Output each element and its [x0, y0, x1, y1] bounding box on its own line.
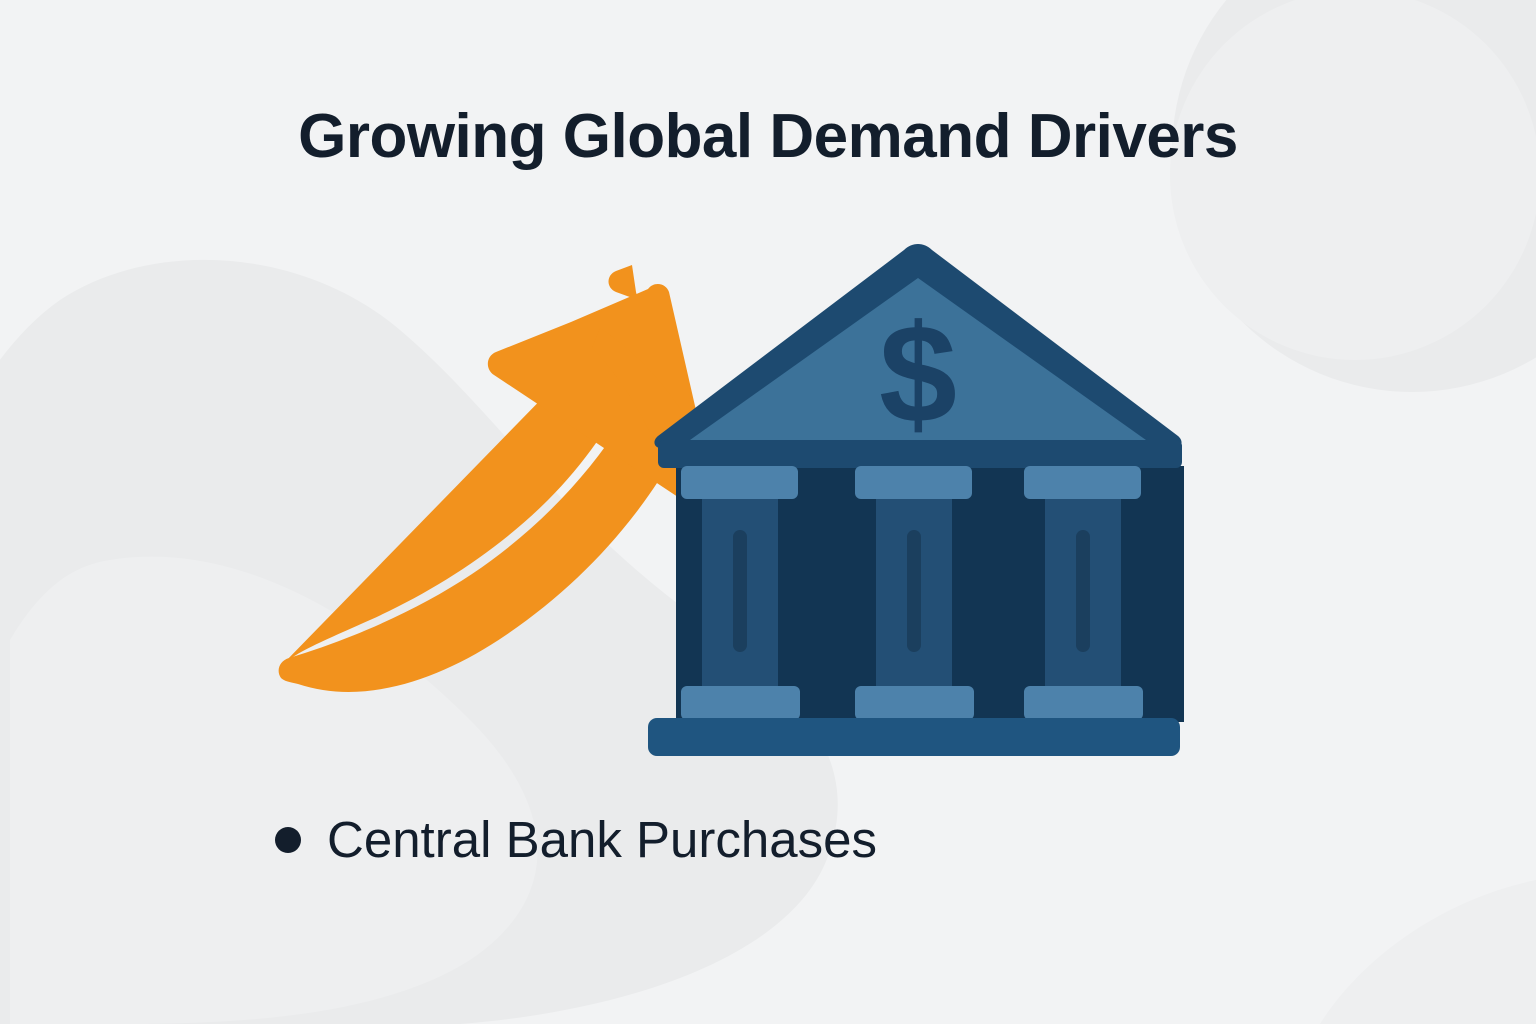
column-3-base	[1024, 686, 1143, 720]
dollar-sign-icon: $	[879, 295, 957, 452]
bullet-marker-icon	[275, 827, 301, 853]
growth-arrow-icon	[279, 265, 717, 692]
illustration-canvas: $	[0, 0, 1536, 1024]
bank-entablature	[658, 440, 1182, 468]
column-3-capital	[1024, 466, 1141, 499]
column-2-base	[855, 686, 974, 720]
bullet-item-label: Central Bank Purchases	[327, 814, 877, 865]
column-2-capital	[855, 466, 972, 499]
bank-building-icon: $	[648, 244, 1184, 756]
column-3-flute	[1076, 530, 1090, 652]
dollar-sign-glyph: $	[879, 295, 957, 452]
bullet-list-item: Central Bank Purchases	[275, 814, 877, 865]
column-2-flute	[907, 530, 921, 652]
column-1-capital	[681, 466, 798, 499]
slide-canvas: Growing Global Demand Drivers $	[0, 0, 1536, 1024]
bank-plinth	[648, 718, 1180, 756]
column-1-base	[681, 686, 800, 720]
column-1-flute	[733, 530, 747, 652]
